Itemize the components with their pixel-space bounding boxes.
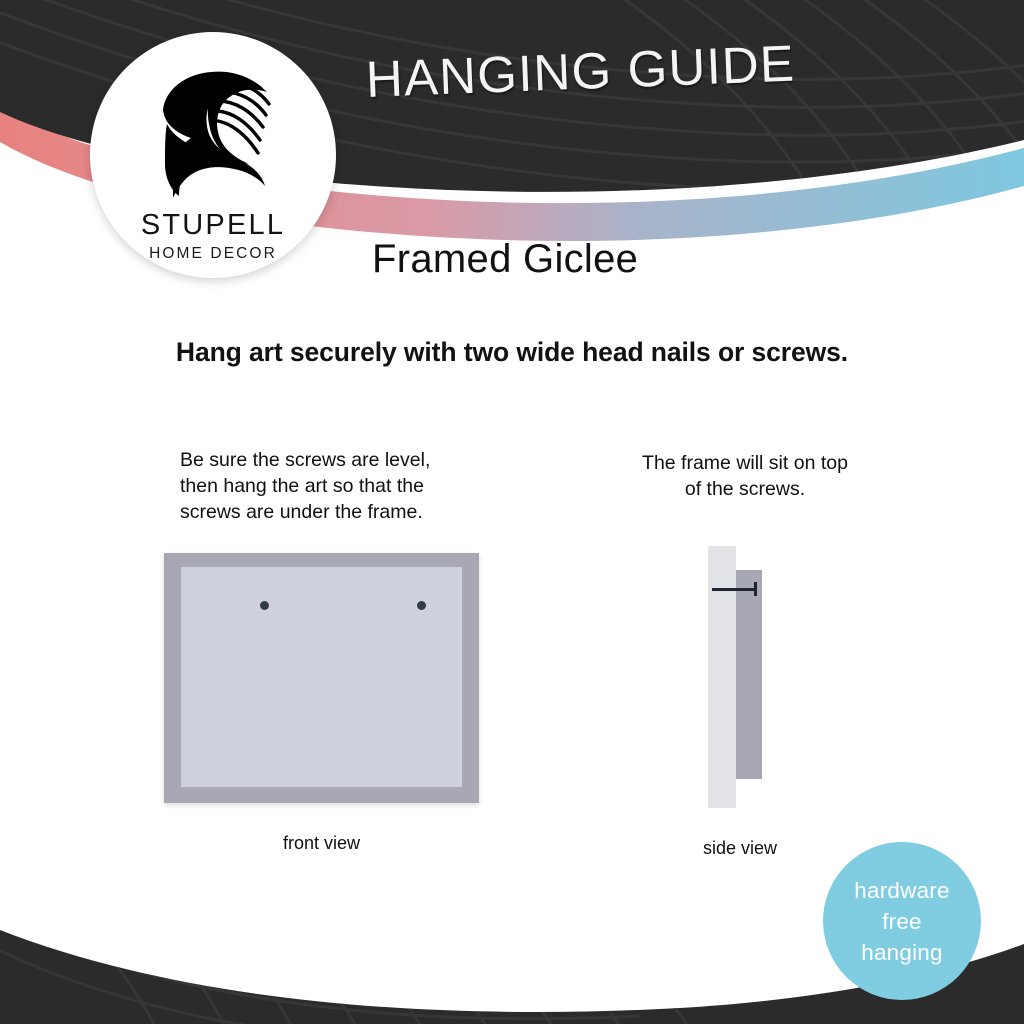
nail-head-icon	[754, 582, 757, 596]
main-instruction-text: Hang art securely with two wide head nai…	[0, 337, 1024, 368]
front-view-caption-line-1: Be sure the screws are level,	[180, 447, 480, 473]
side-view-caption-line-2: of the screws.	[600, 476, 890, 502]
front-view-diagram	[164, 553, 479, 803]
hanging-guide-page: STUPELL HOME DECOR HANGING GUIDE Framed …	[0, 0, 1024, 1024]
page-title-text: HANGING GUIDE	[365, 35, 796, 108]
front-view-caption-line-3: screws are under the frame.	[180, 499, 480, 525]
front-view-caption: Be sure the screws are level, then hang …	[180, 447, 480, 525]
brand-wordmark: STUPELL HOME DECOR	[90, 210, 336, 263]
side-view-label: side view	[660, 838, 820, 859]
hardware-free-hanging-badge: hardware free hanging	[823, 842, 981, 1000]
stupell-swoosh-icon	[149, 66, 277, 198]
badge-line-2: free	[882, 906, 922, 937]
frame-side-strip	[736, 570, 762, 779]
brand-tagline: HOME DECOR	[90, 245, 336, 263]
front-view-label: front view	[164, 833, 479, 854]
nail-shaft-icon	[712, 588, 756, 591]
frame-inner-panel	[181, 567, 462, 787]
product-name: Framed Giclee	[372, 237, 638, 282]
badge-line-3: hanging	[861, 937, 942, 968]
frame-outer-border	[164, 553, 479, 803]
screw-dot-right-icon	[417, 601, 426, 610]
badge-line-1: hardware	[854, 875, 949, 906]
screw-dot-left-icon	[260, 601, 269, 610]
page-title: HANGING GUIDE	[365, 30, 887, 109]
side-view-diagram	[700, 546, 790, 808]
brand-name: STUPELL	[90, 210, 336, 240]
side-view-caption: The frame will sit on top of the screws.	[600, 450, 890, 502]
wall-strip	[708, 546, 736, 808]
front-view-caption-line-2: then hang the art so that the	[180, 473, 480, 499]
side-view-caption-line-1: The frame will sit on top	[600, 450, 890, 476]
brand-logo-badge: STUPELL HOME DECOR	[90, 32, 336, 278]
